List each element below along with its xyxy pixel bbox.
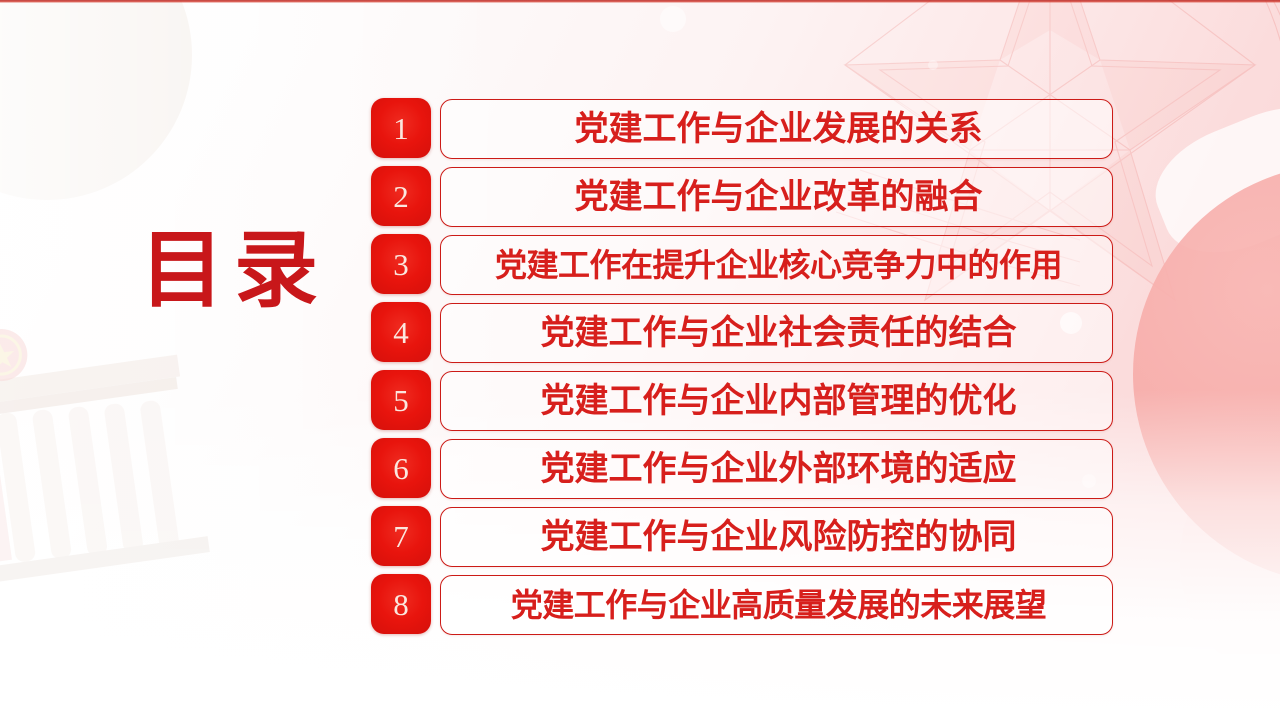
list-item-label: 党建工作与企业社会责任的结合 (441, 316, 1112, 350)
top-accent-rule (0, 0, 1280, 3)
item-number-badge: 2 (371, 166, 431, 226)
item-number-badge: 1 (371, 98, 431, 158)
item-number-badge: 6 (371, 438, 431, 498)
list-item-label: 党建工作与企业改革的融合 (441, 180, 1112, 214)
list-item[interactable]: 4 党建工作与企业社会责任的结合 (371, 302, 1113, 362)
item-text-box[interactable]: 党建工作与企业风险防控的协同 (440, 507, 1113, 567)
list-item-label: 党建工作在提升企业核心竞争力中的作用 (441, 249, 1112, 281)
page-title: 目录 (140, 228, 380, 316)
list-item-label: 党建工作与企业外部环境的适应 (441, 452, 1112, 486)
item-text-box[interactable]: 党建工作与企业外部环境的适应 (440, 439, 1113, 499)
list-item-label: 党建工作与企业风险防控的协同 (441, 520, 1112, 554)
item-text-box[interactable]: 党建工作与企业改革的融合 (440, 167, 1113, 227)
item-number-badge: 8 (371, 574, 431, 634)
item-number-badge: 3 (371, 234, 431, 294)
list-item[interactable]: 8 党建工作与企业高质量发展的未来展望 (371, 574, 1113, 634)
list-item[interactable]: 3 党建工作在提升企业核心竞争力中的作用 (371, 234, 1113, 294)
item-text-box[interactable]: 党建工作与企业高质量发展的未来展望 (440, 575, 1113, 635)
list-item-label: 党建工作与企业发展的关系 (441, 112, 1112, 146)
list-item-label: 党建工作与企业内部管理的优化 (441, 384, 1112, 418)
item-number-badge: 4 (371, 302, 431, 362)
list-item[interactable]: 6 党建工作与企业外部环境的适应 (371, 438, 1113, 498)
list-item[interactable]: 5 党建工作与企业内部管理的优化 (371, 370, 1113, 430)
slide-canvas: 目录 1 党建工作与企业发展的关系 2 党建工作与企业改革的融合 3 党建工作在… (0, 0, 1280, 720)
list-item[interactable]: 2 党建工作与企业改革的融合 (371, 166, 1113, 226)
item-number-badge: 5 (371, 370, 431, 430)
item-text-box[interactable]: 党建工作与企业内部管理的优化 (440, 371, 1113, 431)
item-text-box[interactable]: 党建工作在提升企业核心竞争力中的作用 (440, 235, 1113, 295)
table-of-contents-list: 1 党建工作与企业发展的关系 2 党建工作与企业改革的融合 3 党建工作在提升企… (371, 98, 1113, 642)
item-text-box[interactable]: 党建工作与企业社会责任的结合 (440, 303, 1113, 363)
item-number-badge: 7 (371, 506, 431, 566)
list-item-label: 党建工作与企业高质量发展的未来展望 (441, 589, 1112, 621)
list-item[interactable]: 1 党建工作与企业发展的关系 (371, 98, 1113, 158)
list-item[interactable]: 7 党建工作与企业风险防控的协同 (371, 506, 1113, 566)
item-text-box[interactable]: 党建工作与企业发展的关系 (440, 99, 1113, 159)
